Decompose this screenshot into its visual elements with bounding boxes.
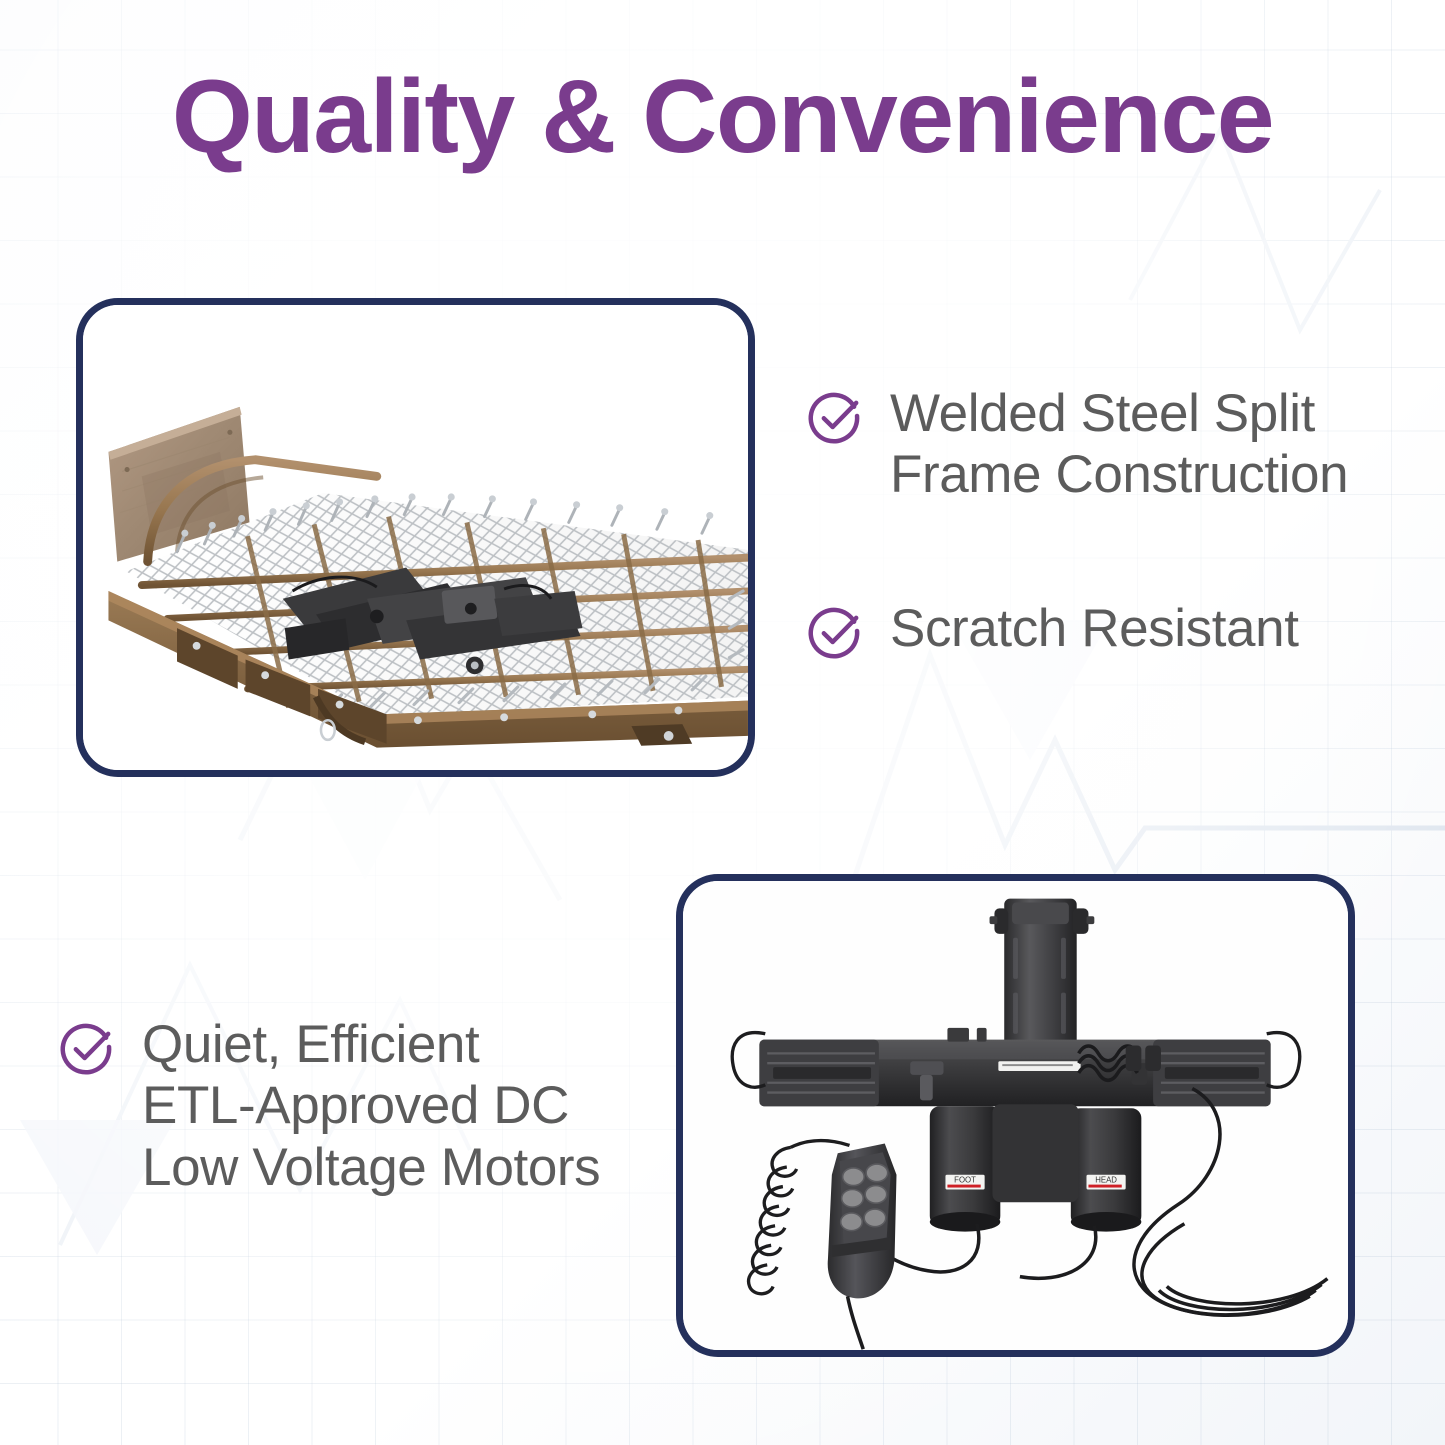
bed-frame-photo (83, 305, 748, 774)
check-circle-icon (58, 1020, 116, 1078)
feature-item-welded-steel: Welded Steel Split Frame Construction (806, 383, 1406, 506)
promo-graphic: Quality & Convenience (0, 0, 1445, 1445)
motor-cylinder-foot: FOOT (930, 1106, 1001, 1231)
page-title: Quality & Convenience (0, 62, 1445, 172)
feature-label: Welded Steel Split Frame Construction (890, 383, 1348, 506)
feature-item-etl-motors: Quiet, Efficient ETL-Approved DC Low Vol… (58, 1014, 678, 1198)
motor-cylinder-head: HEAD (1071, 1108, 1142, 1231)
motor-assembly-photo: FOOT HEAD (683, 881, 1348, 1354)
feature-item-scratch-resistant: Scratch Resistant (806, 598, 1406, 662)
svg-text:HEAD: HEAD (1095, 1176, 1117, 1185)
feature-label: Scratch Resistant (890, 598, 1299, 659)
bed-frame-photo-panel (76, 298, 755, 777)
motor-assembly-photo-panel: FOOT HEAD (676, 874, 1355, 1357)
svg-text:FOOT: FOOT (954, 1176, 976, 1185)
check-circle-icon (806, 604, 864, 662)
check-circle-icon (806, 389, 864, 447)
feature-label: Quiet, Efficient ETL-Approved DC Low Vol… (142, 1014, 600, 1198)
